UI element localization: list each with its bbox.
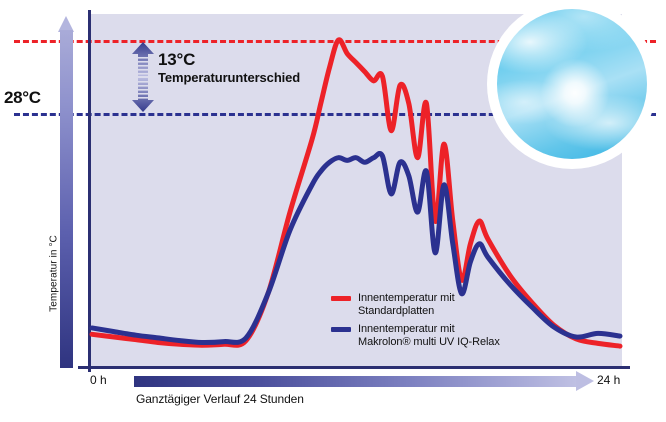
time-arrow-right-icon: [576, 371, 594, 391]
legend-label-standardplatten-line1: Innentemperatur mit: [358, 292, 546, 305]
x-axis-end-label: 24 h: [597, 373, 620, 387]
legend-swatch-red: [331, 296, 351, 301]
legend-item-makrolon: Innentemperatur mit Makrolon® multi UV I…: [331, 323, 546, 348]
x-axis-caption: Ganztägiger Verlauf 24 Stunden: [136, 392, 304, 406]
chart-root: Temperatur in °C 28°C: [0, 0, 666, 422]
x-axis-start-label: 0 h: [90, 373, 107, 387]
legend-item-standardplatten: Innentemperatur mit Standardplatten: [331, 292, 546, 317]
series-lines: [0, 0, 666, 422]
chart-legend: Innentemperatur mit Standardplatten Inne…: [331, 292, 546, 354]
legend-label-standardplatten-line2: Standardplatten: [358, 305, 546, 318]
legend-swatch-blue: [331, 327, 351, 332]
time-gradient-bar: [134, 376, 576, 387]
legend-label-makrolon-line1: Innentemperatur mit: [358, 323, 546, 336]
legend-label-makrolon-line2: Makrolon® multi UV IQ-Relax: [358, 336, 546, 349]
